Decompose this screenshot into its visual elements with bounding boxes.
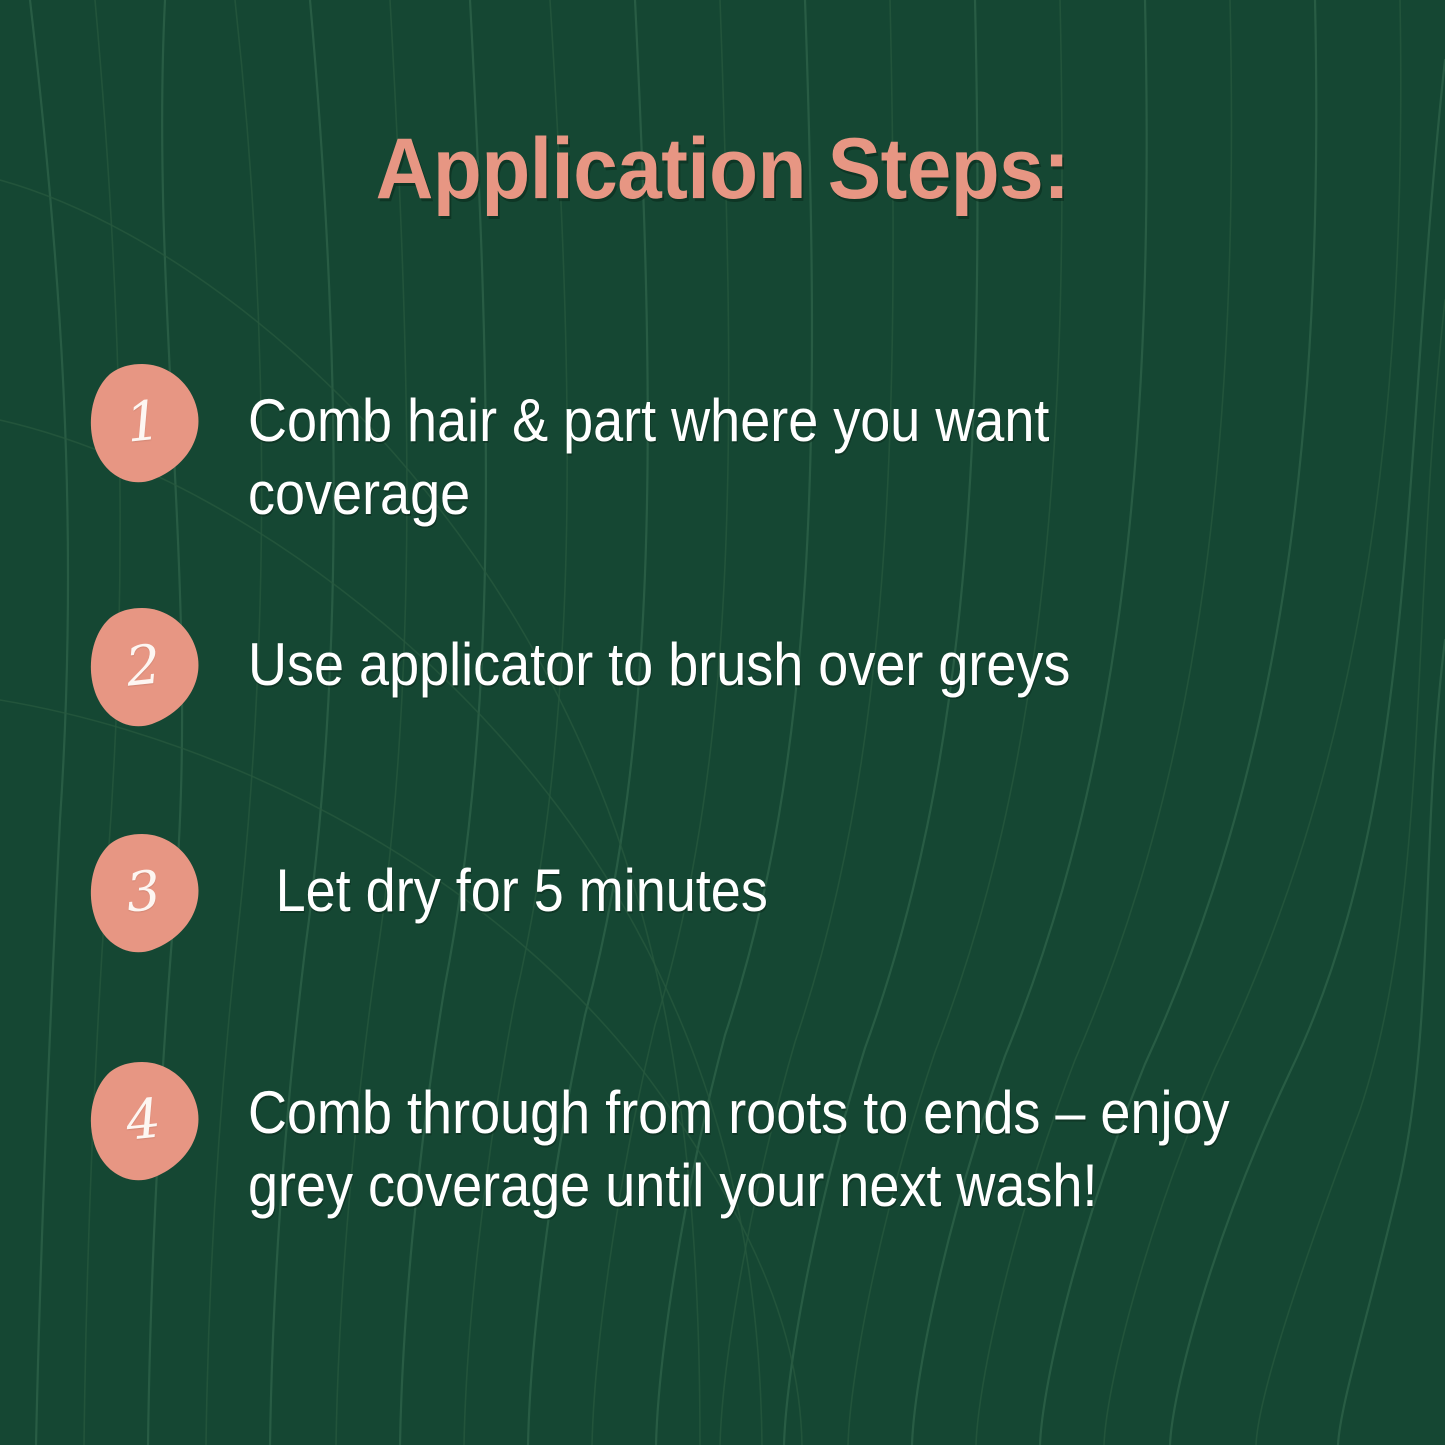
step-number: 1 bbox=[82, 354, 206, 487]
step-text: Comb through from roots to ends – enjoy … bbox=[248, 1060, 1230, 1222]
step-badge-3: 3 bbox=[88, 832, 200, 954]
step-badge-2: 2 bbox=[88, 606, 200, 728]
step-badge-4: 4 bbox=[88, 1060, 200, 1182]
step-item: 3 Let dry for 5 minutes bbox=[88, 832, 1385, 954]
step-text: Comb hair & part where you want coverage bbox=[248, 362, 1271, 530]
step-item: 4 Comb through from roots to ends – enjo… bbox=[88, 1060, 1385, 1222]
step-number: 2 bbox=[82, 598, 206, 731]
step-badge-1: 1 bbox=[88, 362, 200, 484]
steps-list: 1 Comb hair & part where you want covera… bbox=[0, 0, 1445, 1445]
step-text: Use applicator to brush over greys bbox=[248, 606, 1070, 701]
step-text: Let dry for 5 minutes bbox=[248, 832, 768, 927]
step-item: 1 Comb hair & part where you want covera… bbox=[88, 362, 1385, 530]
step-item: 2 Use applicator to brush over greys bbox=[88, 606, 1385, 728]
step-number: 4 bbox=[82, 1052, 206, 1185]
application-steps-graphic: Application Steps: 1 Comb hair & part wh… bbox=[0, 0, 1445, 1445]
step-number: 3 bbox=[82, 824, 206, 957]
